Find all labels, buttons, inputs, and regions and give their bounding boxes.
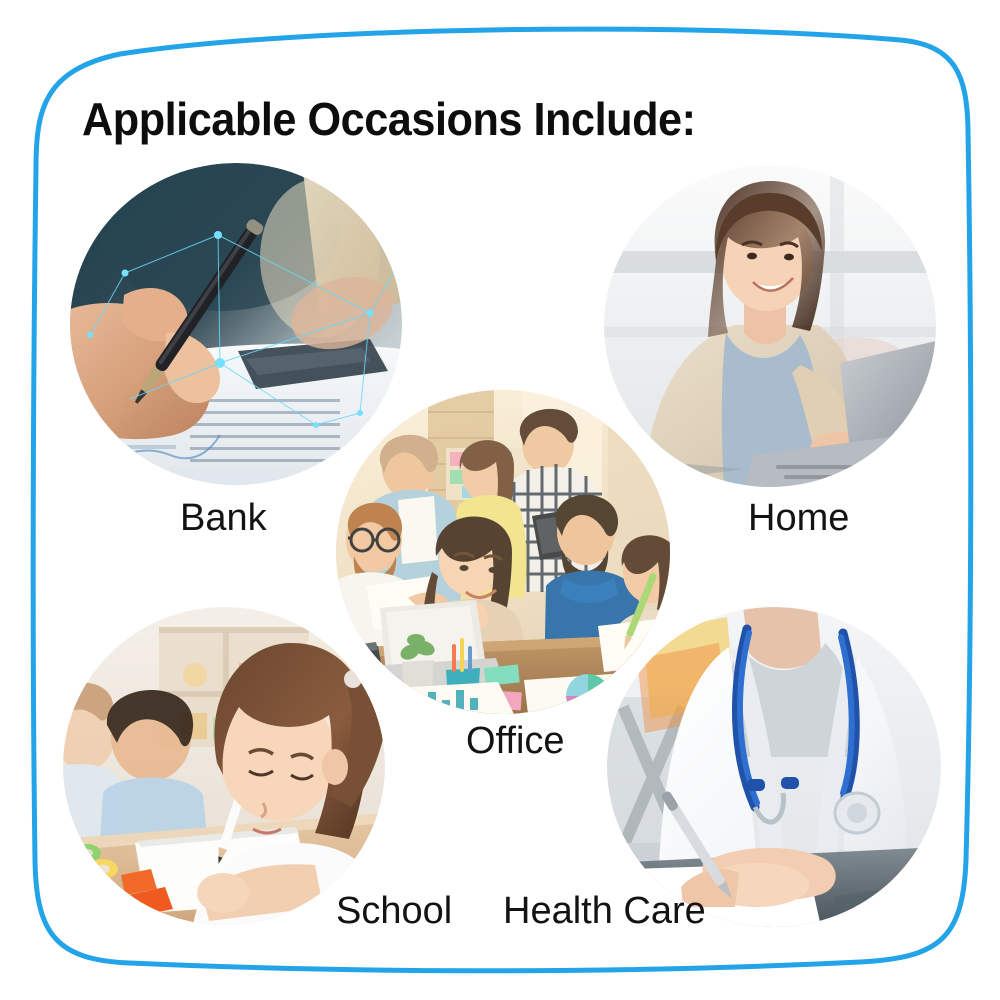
- occasion-label-home: Home: [748, 497, 849, 540]
- occasion-label-health-care: Health Care: [503, 890, 706, 933]
- occasion-image-home: [604, 165, 936, 487]
- occasion-label-school: School: [336, 890, 452, 933]
- page-title: Applicable Occasions Include:: [82, 92, 696, 146]
- occasion-image-bank: [70, 163, 402, 485]
- occasion-label-office: Office: [466, 720, 565, 763]
- poster-canvas: Applicable Occasions Include:: [0, 0, 1000, 1000]
- occasion-label-bank: Bank: [180, 497, 267, 540]
- occasion-image-office: [336, 390, 670, 714]
- occasion-image-health-care: [607, 607, 941, 927]
- occasion-image-school: [63, 607, 385, 925]
